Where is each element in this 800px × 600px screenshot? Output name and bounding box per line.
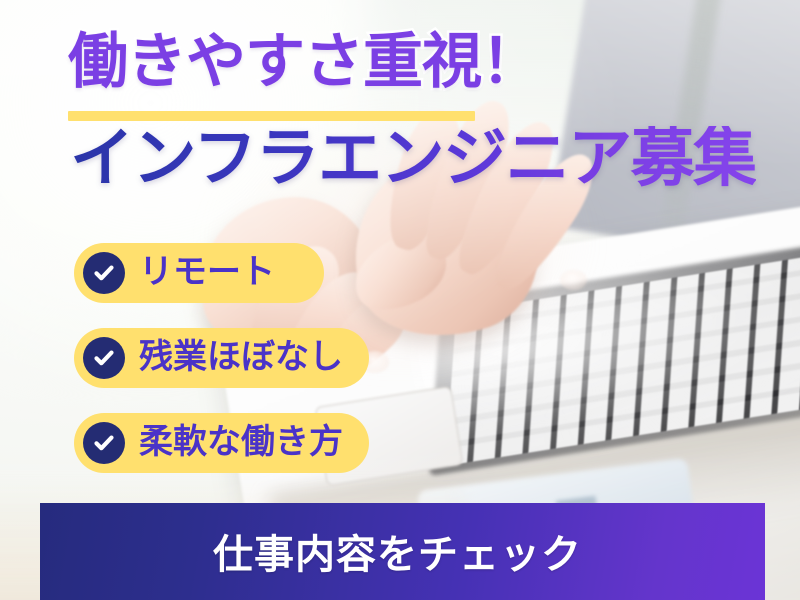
feature-badge-label: 残業ほぼなし (139, 340, 343, 376)
headline-underline-rule (68, 111, 475, 121)
feature-badge-label: リモート (139, 255, 275, 291)
check-icon (83, 252, 125, 294)
feature-badge: リモート (74, 243, 324, 303)
check-icon (83, 337, 125, 379)
feature-badge: 残業ほぼなし (74, 328, 369, 388)
headline-primary: 働きやすさ重視！ (68, 32, 540, 92)
feature-badge-label: 柔軟な働き方 (139, 425, 343, 461)
feature-badge: 柔軟な働き方 (74, 413, 369, 473)
job-ad-banner: 働きやすさ重視！ インフラエンジニア募集 リモート 残業ほぼなし (0, 0, 800, 600)
check-icon (83, 422, 125, 464)
cta-button[interactable]: 仕事内容をチェック (40, 503, 765, 600)
cta-label: 仕事内容をチェック (213, 522, 582, 580)
headline-secondary: インフラエンジニア募集 (70, 126, 756, 190)
feature-badge-list: リモート 残業ほぼなし 柔軟な働き方 (74, 243, 369, 498)
